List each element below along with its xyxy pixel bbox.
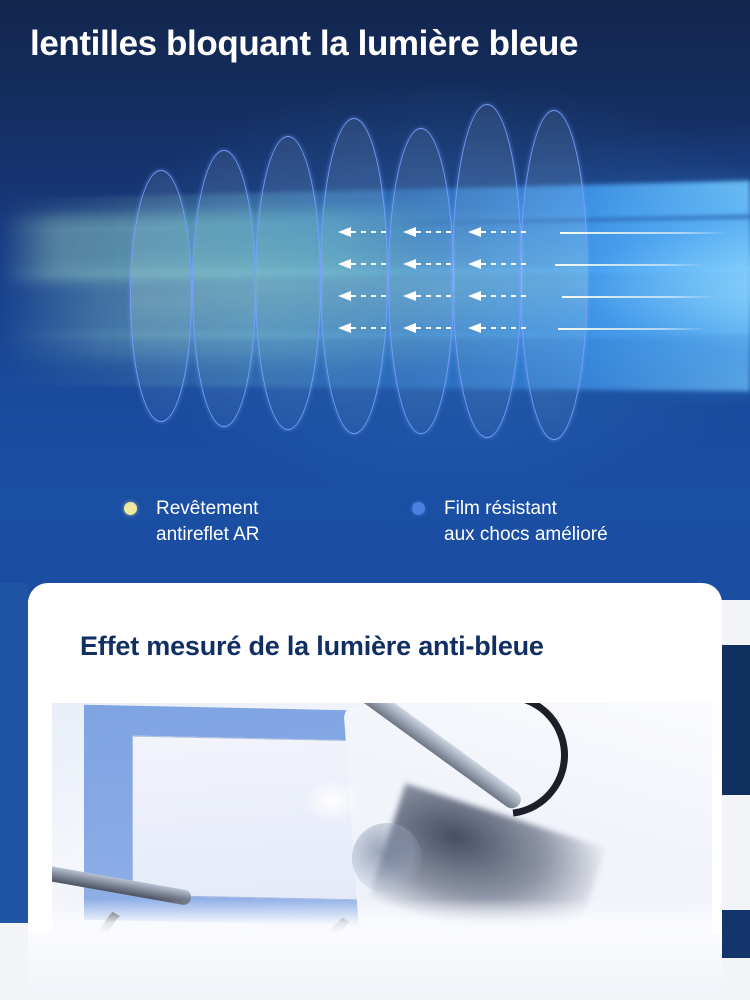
arrow-tail [481,263,526,265]
arrow-row-2-col3 [468,259,528,269]
light-beam-layer [0,150,750,420]
arrow-row-4-col1 [338,323,398,333]
arrow-tail [481,231,526,233]
right-accent-bar [722,645,750,795]
lens-disc-1 [130,170,192,422]
arrow-head-icon [468,227,481,237]
arrow-tail [351,327,391,329]
legend-line-2: aux chocs amélioré [444,522,608,548]
arrow-tail [416,263,456,265]
lens-disc-7 [520,110,588,440]
arrow-tail [416,231,456,233]
arrow-row-1-col2 [403,227,463,237]
light-beam-1 [0,181,750,233]
lens-disc-6 [452,104,522,438]
legend-line-1: Revêtement [156,496,260,522]
product-detail-page: lentilles bloquant la lumière bleue Revê… [0,0,750,1000]
lens-disc-4 [320,118,388,434]
arrow-head-icon [403,227,416,237]
legend-line-2: antireflet AR [156,522,260,548]
incoming-ray-3 [562,296,717,298]
arrow-tail [351,263,391,265]
light-beam-3 [0,266,750,340]
card-title: Effet mesuré de la lumière anti-bleue [80,631,544,662]
lens-disc-5 [388,128,454,434]
arrow-tail [351,231,391,233]
legend-item-impact-film: Film résistant aux chocs amélioré [412,496,692,556]
arrow-head-icon [338,227,351,237]
arrow-tail [351,295,391,297]
arrow-row-3-col1 [338,291,398,301]
incoming-ray-1 [560,232,730,234]
arrow-head-icon [338,291,351,301]
hero-panel: lentilles bloquant la lumière bleue Revê… [0,0,750,600]
filtered-light-band-1 [0,207,470,282]
arrow-row-1-col3 [468,227,528,237]
lens-disc-2 [192,150,256,427]
arrow-head-icon [468,291,481,301]
blue-bullet-dot [412,502,425,515]
legend-label-ar-coating: Revêtement antireflet AR [156,496,260,548]
arrow-head-icon [468,259,481,269]
arrow-row-3-col2 [403,291,463,301]
photo-specular-glare [302,778,362,823]
incoming-ray-2 [555,264,705,266]
arrow-head-icon [338,323,351,333]
lens-disc-3 [255,136,321,430]
arrow-tail [416,295,456,297]
photo-bottom-fade [52,899,712,933]
arrow-row-4-col2 [403,323,463,333]
arrow-row-2-col2 [403,259,463,269]
yellow-bullet-dot [124,502,137,515]
legend-line-1: Film résistant [444,496,608,522]
arrow-tail [481,327,526,329]
legend-label-impact-film: Film résistant aux chocs amélioré [444,496,608,548]
arrow-tail [481,295,526,297]
arrow-head-icon [403,259,416,269]
light-beam-2 [0,219,750,281]
arrow-tail [416,327,456,329]
legend-item-ar-coating: Revêtement antireflet AR [124,496,364,556]
measured-effect-photo [52,703,712,933]
arrow-row-4-col3 [468,323,528,333]
arrow-head-icon [403,291,416,301]
filtered-light-band-2 [0,268,560,358]
arrow-head-icon [403,323,416,333]
incoming-ray-4 [558,328,706,330]
arrow-row-3-col3 [468,291,528,301]
card-bottom-fill [28,933,722,1000]
beam-source-glow [390,170,750,400]
arrow-row-2-col1 [338,259,398,269]
right-accent-bar-secondary [722,910,750,958]
left-accent-bar [0,583,28,923]
light-beam-4 [0,329,750,392]
page-title: lentilles bloquant la lumière bleue [30,22,730,66]
arrow-row-1 [338,227,398,237]
arrow-head-icon [338,259,351,269]
arrow-head-icon [468,323,481,333]
